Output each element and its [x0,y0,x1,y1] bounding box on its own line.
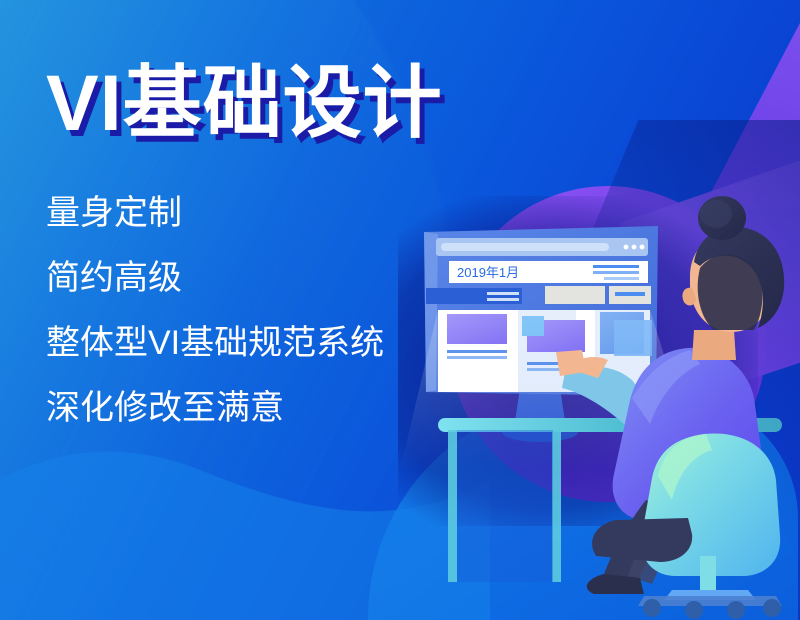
feature-list: 量身定制 简约高级 整体型VI基础规范系统 深化修改至满意 [46,196,466,425]
feature-item: 整体型VI基础规范系统 [46,326,466,360]
banner-root: 2019年1月 [0,0,800,620]
screen-date-label: 2019年1月 [457,265,519,280]
feature-item: 简约高级 [46,261,466,295]
page-title: VI基础设计 [46,63,443,142]
feature-item: 深化修改至满意 [46,391,466,425]
chair-seat [592,518,692,562]
feature-item: 量身定制 [46,196,466,230]
